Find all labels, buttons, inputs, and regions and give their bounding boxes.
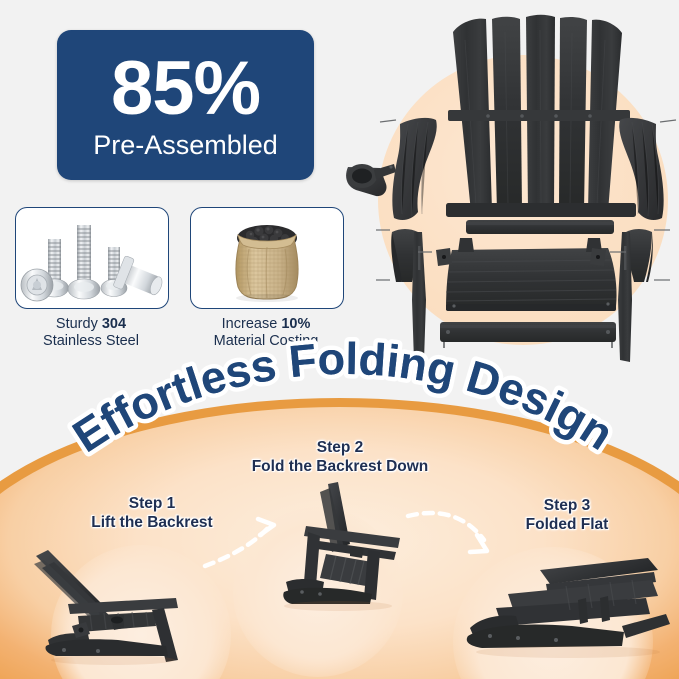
right-front-leg	[618, 229, 670, 362]
seat-assembly	[446, 238, 617, 311]
step-1-label: Step 1 Lift the Backrest	[62, 494, 242, 532]
feature-icon-box	[190, 207, 344, 309]
feature-caption-prefix: Sturdy	[56, 316, 102, 332]
feature-icon-box	[15, 207, 169, 309]
step-2-label: Step 2 Fold the Backrest Down	[230, 438, 450, 476]
chair-reclined-side-view	[28, 534, 218, 674]
infographic-canvas: 85% Pre-Assembled	[0, 0, 679, 679]
badge-label: Pre-Assembled	[93, 130, 278, 160]
feature-card-stainless-steel: Sturdy 304 Stainless Steel	[15, 207, 171, 350]
screws-icon	[17, 209, 167, 307]
badge-percent: 85%	[111, 52, 260, 126]
step-2-number: Step 2	[230, 438, 450, 457]
feature-caption-prefix: Increase	[222, 316, 282, 332]
step-3-number: Step 3	[487, 496, 647, 515]
feature-caption-strong: 10%	[281, 316, 310, 332]
feature-card-material-costing: Increase 10% Material Costing	[190, 207, 346, 350]
exploded-chair-parts-diagram	[340, 0, 679, 380]
chair-folded-flat	[462, 552, 674, 672]
step-3-label: Step 3 Folded Flat	[487, 496, 647, 534]
step-1-number: Step 1	[62, 494, 242, 513]
material-sack-icon	[192, 209, 342, 307]
step-2-title: Fold the Backrest Down	[230, 457, 450, 476]
feature-caption: Sturdy 304 Stainless Steel	[11, 316, 171, 350]
cup-holder-ring	[346, 164, 396, 196]
chair-partially-folded	[268, 482, 428, 622]
step-1-title: Lift the Backrest	[62, 513, 242, 532]
feature-caption-line2: Stainless Steel	[11, 333, 171, 350]
step-3-title: Folded Flat	[487, 515, 647, 534]
feature-caption-strong: 304	[102, 316, 126, 332]
front-apron-bar	[466, 220, 614, 234]
support-bar	[440, 322, 616, 348]
pre-assembled-badge: 85% Pre-Assembled	[57, 30, 314, 180]
backrest-fan-slats	[446, 15, 636, 217]
